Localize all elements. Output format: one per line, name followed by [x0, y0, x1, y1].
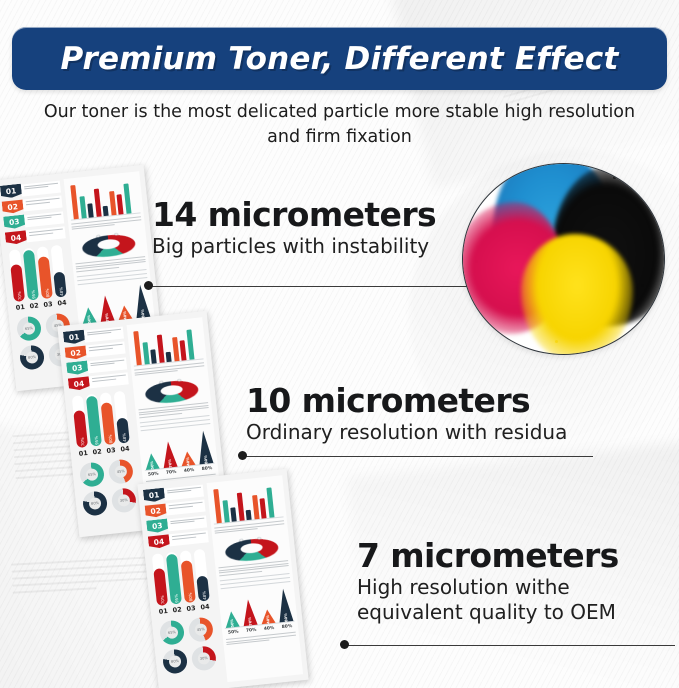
leader-dot — [238, 451, 247, 460]
donut-gauge: 45% — [188, 616, 214, 642]
tab-text-placeholder — [87, 357, 127, 373]
numbered-tab-row: 04 — [5, 226, 66, 245]
triangle-axis-label: 50% — [226, 629, 240, 635]
tab-badge-04: 04 — [68, 376, 90, 391]
tab-text-placeholder — [89, 372, 129, 388]
bar-value-label: 80% — [187, 592, 193, 601]
vertical-bar-chart: 70%95%80%48% — [7, 244, 72, 302]
numbered-tab-list: 01020304 — [0, 180, 66, 245]
infographic-canvas: Premium Toner, Different Effect Our tone… — [0, 0, 679, 688]
header-banner: Premium Toner, Different Effect — [12, 27, 667, 90]
tab-badge-02: 02 — [2, 199, 24, 214]
tab-badge-02: 02 — [65, 345, 87, 360]
bar-value-label: 80% — [44, 288, 50, 297]
triangle-item: 70% — [161, 441, 178, 468]
tab-badge-01: 01 — [143, 488, 165, 503]
mini-bar — [266, 487, 274, 517]
mini-bar — [79, 196, 86, 218]
tab-text-placeholder — [21, 180, 61, 196]
vertical-bar: 80% — [181, 560, 196, 603]
sheet-gridlines — [140, 415, 211, 431]
triangle-value-label: 70% — [168, 459, 173, 468]
mini-bar — [93, 189, 101, 217]
vertical-bar-chart: 70%95%80%48% — [70, 390, 135, 448]
mini-bar — [230, 507, 236, 521]
vertical-bar: 48% — [116, 417, 130, 443]
ring-marker — [177, 379, 182, 382]
gauge-value-label: 65% — [165, 626, 178, 639]
mini-bar — [87, 203, 93, 217]
triangle-value-label: 50% — [150, 461, 155, 470]
bar-category-label: 02 — [171, 605, 183, 614]
bar-value-label: 70% — [79, 437, 85, 446]
callout-7-micrometers: 7 micrometers High resolution withe equi… — [357, 537, 619, 625]
donut-gauge: 80% — [162, 648, 188, 674]
tab-text-placeholder — [84, 326, 124, 342]
numbered-tab-list: 01020304 — [63, 326, 129, 391]
toner-speck — [613, 176, 616, 179]
bar-value-label: 80% — [107, 434, 113, 443]
sheet-right-column: 50%70%40%80%50%70%40%80% — [207, 475, 303, 682]
mini-bar-chart — [130, 322, 204, 367]
triangle-axis-label: 80% — [200, 466, 214, 472]
donut-gauge: 45% — [108, 458, 134, 484]
triangle-value-label: 40% — [266, 615, 271, 624]
bar-value-label: 95% — [93, 435, 99, 444]
leader-dot — [340, 640, 349, 649]
sheet-gridlines — [220, 573, 291, 589]
mini-bar — [213, 489, 222, 523]
bar-category-label: 01 — [14, 302, 26, 311]
triangle-axis-label: 40% — [262, 626, 276, 632]
leader-line-stroke — [243, 456, 593, 457]
bar-category-label: 01 — [77, 448, 89, 457]
mini-bar-chart — [210, 480, 284, 525]
gauge-group: 65%45%80%30% — [157, 615, 222, 674]
mini-bar — [116, 194, 123, 214]
tab-text-placeholder — [26, 226, 66, 242]
leader-line-stroke — [149, 286, 474, 287]
numbered-tab-row: 04 — [148, 530, 209, 549]
donut-gauge: 65% — [79, 461, 105, 487]
mini-bar — [70, 185, 79, 219]
leader-line-stroke — [345, 645, 675, 646]
bar-category-label: 03 — [105, 445, 117, 454]
donut-ring-chart — [78, 233, 143, 260]
tab-text-placeholder — [85, 342, 125, 358]
bar-category-label: 04 — [119, 444, 131, 453]
toner-speck — [641, 284, 644, 287]
vertical-bar: 70% — [10, 264, 25, 301]
donut-ring-hole — [240, 543, 264, 555]
donut-ring-chart — [141, 379, 206, 406]
mini-bar — [133, 331, 142, 365]
mini-bar — [186, 329, 194, 359]
triangle-axis-label: 80% — [280, 624, 294, 630]
gauge-value-label: 65% — [85, 468, 98, 481]
bar-value-label: 70% — [16, 291, 22, 300]
callout-heading: 10 micrometers — [246, 382, 567, 420]
bar-category-label: 04 — [56, 298, 68, 307]
gauge-value-label: 80% — [168, 654, 181, 667]
mini-bar-chart — [67, 176, 141, 221]
bar-value-label: 48% — [58, 286, 64, 295]
donut-gauge: 80% — [82, 490, 108, 516]
bar-category-label: 03 — [42, 299, 54, 308]
callout-10-micrometers: 10 micrometers Ordinary resolution with … — [246, 382, 567, 445]
callout-description-line2: equivalent quality to OEM — [357, 600, 619, 625]
cmyk-toner-powder-photo — [462, 163, 665, 355]
vertical-bar-chart: 70%95%80%48% — [150, 548, 215, 606]
callout-heading: 7 micrometers — [357, 537, 619, 575]
mini-bar — [123, 183, 131, 213]
mini-bar — [236, 493, 244, 521]
gauge-value-label: 80% — [25, 350, 38, 363]
triangle-axis-label: 70% — [244, 628, 258, 634]
triangle-axis-label: 50% — [146, 471, 160, 477]
tab-badge-03: 03 — [3, 214, 25, 229]
donut-ring-wrap — [135, 373, 207, 406]
vertical-bar-slot: 48% — [193, 548, 209, 601]
bar-value-label: 95% — [173, 593, 179, 602]
infographic-sheet: 0102030470%95%80%48%0102030465%45%80%30%… — [137, 469, 308, 688]
triangle-value-label: 40% — [186, 457, 191, 466]
bar-category-label: 04 — [199, 602, 211, 611]
tab-badge-02: 02 — [145, 503, 167, 518]
triangle-item: 70% — [241, 599, 258, 626]
triangle-axis-label: 40% — [182, 468, 196, 474]
tab-text-placeholder — [167, 515, 207, 531]
gauge-value-label: 30% — [117, 493, 130, 506]
mini-bar — [109, 191, 116, 215]
vertical-bar: 70% — [73, 410, 88, 447]
mini-bar — [179, 340, 186, 360]
donut-ring-chart — [221, 537, 286, 564]
triangle-value-label: 50% — [230, 619, 235, 628]
numbered-tab-row: 04 — [68, 372, 129, 391]
leader-line-7 — [340, 640, 675, 651]
tab-badge-04: 04 — [148, 534, 170, 549]
ring-marker — [257, 537, 262, 540]
mini-bar — [259, 498, 266, 518]
mini-bar — [103, 206, 109, 216]
leader-dot — [144, 281, 153, 290]
mini-bar — [252, 495, 259, 519]
donut-ring-wrap — [72, 227, 144, 260]
vertical-bar-slot: 48% — [50, 244, 66, 297]
gauge-value-label: 45% — [114, 464, 127, 477]
mini-bar — [172, 337, 179, 361]
yellow-toner-heap — [521, 234, 633, 355]
bar-value-label: 48% — [121, 432, 127, 441]
triangle-item: 50% — [81, 307, 97, 324]
donut-gauge: 65% — [16, 315, 42, 341]
callout-description: Ordinary resolution with residua — [246, 420, 567, 445]
vertical-bar: 80% — [38, 256, 53, 299]
gauge-value-label: 65% — [22, 322, 35, 335]
triangle-chart: 50%70%40%80% — [221, 588, 294, 629]
ring-marker — [159, 381, 163, 384]
bar-value-label: 95% — [30, 289, 36, 298]
tab-badge-01: 01 — [0, 184, 22, 199]
vertical-bar: 70% — [153, 568, 168, 605]
sheet-gridlines — [77, 269, 148, 285]
triangle-value-label: 70% — [248, 617, 253, 626]
triangle-value-label: 80% — [204, 455, 209, 464]
tab-text-placeholder — [24, 211, 64, 227]
mini-bar — [150, 349, 156, 363]
tab-badge-03: 03 — [66, 360, 88, 375]
vertical-bar: 48% — [53, 271, 67, 297]
callout-heading: 14 micrometers — [152, 196, 436, 234]
triangle-item: 80% — [196, 430, 213, 464]
vertical-bar: 95% — [86, 396, 102, 446]
gauge-value-label: 45% — [194, 622, 207, 635]
tab-badge-03: 03 — [146, 518, 168, 533]
numbered-tab-list: 01020304 — [143, 484, 209, 549]
triangle-value-label: 80% — [284, 613, 289, 622]
bar-category-label: 02 — [28, 301, 40, 310]
callout-description-line1: High resolution withe — [357, 575, 619, 600]
triangle-item: 70% — [98, 295, 115, 322]
toner-speck — [485, 182, 488, 185]
tab-text-placeholder — [164, 484, 204, 500]
callout-description: Big particles with instability — [152, 234, 436, 259]
gauge-value-label: 30% — [197, 651, 210, 664]
mini-bar — [222, 500, 229, 522]
donut-ring-hole — [97, 239, 121, 251]
triangle-item: 40% — [180, 451, 195, 466]
ring-marker — [114, 233, 119, 236]
leader-line-14 — [144, 281, 474, 292]
vertical-bar: 95% — [166, 554, 182, 604]
gauge-value-label: 80% — [88, 496, 101, 509]
bar-value-label: 48% — [201, 590, 207, 599]
ring-marker — [239, 539, 243, 542]
triangle-item: 50% — [144, 453, 160, 470]
bar-category-label: 02 — [91, 447, 103, 456]
callout-14-micrometers: 14 micrometers Big particles with instab… — [152, 196, 436, 259]
vertical-bar: 95% — [23, 250, 39, 300]
triangle-item: 40% — [260, 609, 275, 624]
toner-speck — [475, 260, 478, 263]
triangle-item: 50% — [224, 611, 240, 628]
background-text-lines-bottom-left — [11, 556, 153, 598]
donut-gauge: 30% — [111, 487, 137, 513]
mini-bar — [156, 335, 164, 363]
tab-badge-04: 04 — [5, 230, 27, 245]
donut-ring-hole — [160, 385, 184, 397]
triangle-chart: 50%70%40%80% — [141, 430, 214, 471]
tab-text-placeholder — [169, 530, 209, 546]
leader-line-10 — [238, 451, 593, 462]
tab-badge-01: 01 — [63, 330, 85, 345]
tab-text-placeholder — [165, 500, 205, 516]
vertical-bar: 80% — [101, 402, 116, 445]
mini-bar — [246, 510, 252, 520]
triangle-item: 80% — [276, 588, 293, 622]
tab-text-placeholder — [22, 196, 62, 212]
gauge-group: 65%45%80%30% — [77, 457, 142, 516]
page-title: Premium Toner, Different Effect — [61, 41, 619, 77]
ring-marker — [96, 235, 100, 238]
bar-category-label: 03 — [185, 603, 197, 612]
vertical-bar: 48% — [196, 575, 210, 601]
donut-gauge: 65% — [159, 619, 185, 645]
mini-bar — [166, 352, 172, 362]
donut-ring-wrap — [215, 531, 287, 564]
vertical-bar-slot: 48% — [113, 390, 129, 443]
donut-gauge: 80% — [19, 344, 45, 370]
triangle-axis-label: 70% — [164, 470, 178, 476]
subtitle-text: Our toner is the most delicated particle… — [0, 100, 679, 150]
bar-value-label: 70% — [159, 595, 165, 604]
toner-speck — [555, 340, 558, 343]
mini-bar — [142, 342, 149, 364]
donut-gauge: 30% — [191, 645, 217, 671]
bar-category-label: 01 — [157, 606, 169, 615]
